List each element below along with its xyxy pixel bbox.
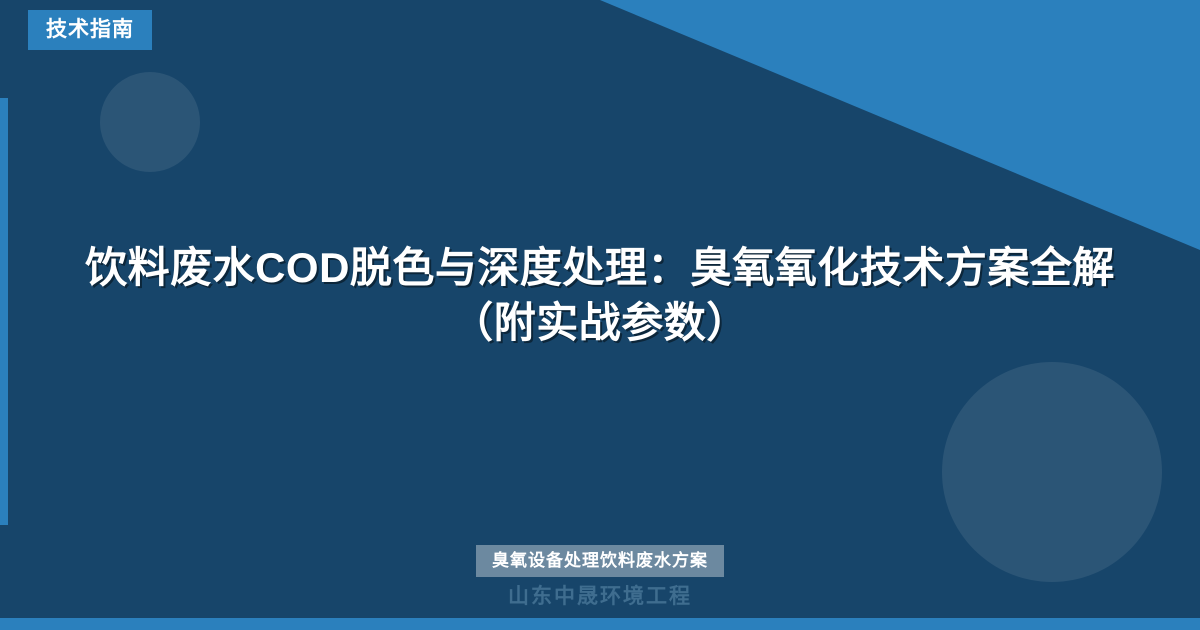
footer-block: 臭氧设备处理饮料废水方案 山东中晟环境工程	[0, 545, 1200, 608]
company-name: 山东中晟环境工程	[0, 585, 1200, 608]
page-title: 饮料废水COD脱色与深度处理：臭氧氧化技术方案全解（附实战参数）	[60, 240, 1140, 351]
decorative-circle-top-left	[100, 72, 200, 172]
bottom-accent-bar	[0, 618, 1200, 630]
cover-banner: 技术指南 饮料废水COD脱色与深度处理：臭氧氧化技术方案全解（附实战参数） 臭氧…	[0, 0, 1200, 630]
category-badge: 技术指南	[28, 10, 152, 50]
title-container: 饮料废水COD脱色与深度处理：臭氧氧化技术方案全解（附实战参数）	[0, 240, 1200, 351]
footer-tag: 臭氧设备处理饮料废水方案	[476, 545, 724, 577]
